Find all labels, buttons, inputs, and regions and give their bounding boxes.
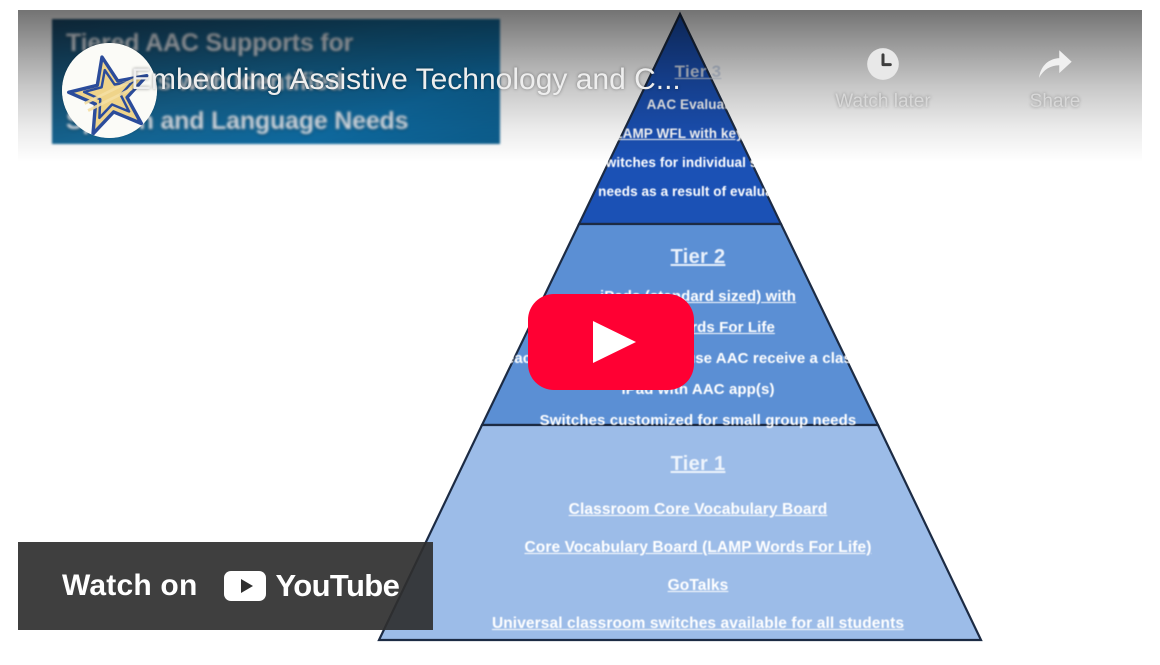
watch-on-label: Watch on [62,569,197,603]
play-button-icon [528,294,694,390]
share-button[interactable]: Share [990,42,1120,113]
play-button[interactable] [528,294,694,390]
share-arrow-icon [990,42,1120,86]
video-title[interactable]: Embedding Assistive Technology and C... [131,62,811,98]
youtube-embed-player[interactable]: Tiered AAC Supports for Students with Id… [18,10,1142,642]
share-label: Share [990,91,1120,113]
tier-1-shape [379,425,981,640]
watch-later-label: Watch later [818,91,948,113]
youtube-brand: YouTube [224,568,399,604]
youtube-wordmark: YouTube [275,568,399,604]
watch-later-button[interactable]: Watch later [818,42,948,113]
top-actions-bar: Watch later Share [818,42,1120,113]
youtube-play-icon [224,571,266,601]
watch-on-youtube-button[interactable]: Watch on YouTube [18,542,433,630]
clock-icon [818,42,948,86]
page-root: Tiered AAC Supports for Students with Id… [0,0,1160,665]
youtube-play-triangle [241,579,253,593]
tier-3-shape [579,14,781,224]
